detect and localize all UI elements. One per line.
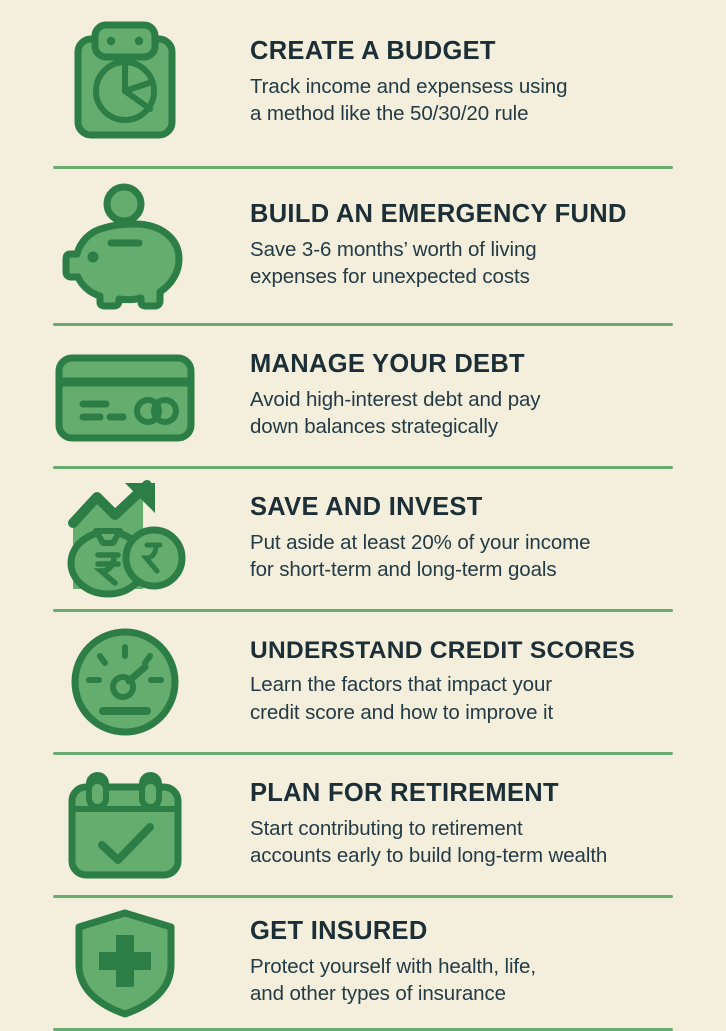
text-cell: SAVE AND INVEST Put aside at least 20% o… (250, 494, 726, 583)
tip-description-line: expenses for unexpected costs (250, 263, 708, 290)
tip-row: SAVE AND INVEST Put aside at least 20% o… (0, 469, 726, 609)
tip-description: Avoid high-interest debt and pay down ba… (250, 386, 708, 441)
tip-title: BUILD AN EMERGENCY FUND (250, 201, 708, 229)
tip-title: UNDERSTAND CREDIT SCORES (250, 638, 708, 664)
tip-description-line: and other types of insurance (250, 980, 708, 1007)
text-cell: UNDERSTAND CREDIT SCORES Learn the facto… (250, 638, 726, 726)
icon-cell (0, 19, 250, 147)
tip-description-line: accounts early to build long-term wealth (250, 842, 708, 869)
tip-row: MANAGE YOUR DEBT Avoid high-interest deb… (0, 326, 726, 466)
tip-description-line: Avoid high-interest debt and pay (250, 386, 708, 413)
text-cell: MANAGE YOUR DEBT Avoid high-interest deb… (250, 351, 726, 440)
tip-description: Track income and expensess using a metho… (250, 73, 708, 128)
tip-title: GET INSURED (250, 918, 708, 946)
piggy-bank-icon (60, 182, 190, 310)
tip-row: PLAN FOR RETIREMENT Start contributing t… (0, 755, 726, 895)
credit-card-icon (53, 346, 197, 446)
shield-cross-icon (71, 907, 179, 1019)
tip-description-line: for short-term and long-term goals (250, 556, 708, 583)
tip-description-line: credit score and how to improve it (250, 699, 708, 726)
tip-description-line: Start contributing to retirement (250, 815, 708, 842)
text-cell: CREATE A BUDGET Track income and expense… (250, 38, 726, 127)
icon-cell (0, 479, 250, 599)
tip-description: Start contributing to retirement account… (250, 815, 708, 870)
icon-cell (0, 182, 250, 310)
clipboard-pie-chart-icon (66, 19, 184, 147)
tip-title: SAVE AND INVEST (250, 494, 708, 522)
tip-row: UNDERSTAND CREDIT SCORES Learn the facto… (0, 612, 726, 752)
tip-title: MANAGE YOUR DEBT (250, 351, 708, 379)
tip-description-line: Learn the factors that impact your (250, 671, 708, 698)
tip-description-line: Put aside at least 20% of your income (250, 529, 708, 556)
icon-cell (0, 625, 250, 739)
money-bag-growth-arrow-icon (63, 479, 187, 599)
tip-description-line: Track income and expensess using (250, 73, 708, 100)
text-cell: BUILD AN EMERGENCY FUND Save 3-6 months’… (250, 201, 726, 290)
tip-row: GET INSURED Protect yourself with health… (0, 898, 726, 1028)
financial-tips-infographic: CREATE A BUDGET Track income and expense… (0, 0, 726, 1024)
text-cell: PLAN FOR RETIREMENT Start contributing t… (250, 780, 726, 869)
tip-description: Protect yourself with health, life, and … (250, 953, 708, 1008)
tip-description: Put aside at least 20% of your income fo… (250, 529, 708, 584)
text-cell: GET INSURED Protect yourself with health… (250, 918, 726, 1007)
tip-title: PLAN FOR RETIREMENT (250, 780, 708, 808)
tip-description: Save 3-6 months’ worth of living expense… (250, 236, 708, 291)
icon-cell (0, 346, 250, 446)
tip-row: BUILD AN EMERGENCY FUND Save 3-6 months’… (0, 169, 726, 323)
icon-cell (0, 907, 250, 1019)
tip-description-line: Save 3-6 months’ worth of living (250, 236, 708, 263)
tip-description: Learn the factors that impact your credi… (250, 671, 708, 726)
credit-score-gauge-icon (67, 625, 183, 739)
calendar-check-icon (64, 767, 186, 883)
tip-description-line: Protect yourself with health, life, (250, 953, 708, 980)
tip-row: CREATE A BUDGET Track income and expense… (0, 0, 726, 166)
icon-cell (0, 767, 250, 883)
tip-description-line: down balances strategically (250, 413, 708, 440)
tip-title: CREATE A BUDGET (250, 38, 708, 66)
tip-description-line: a method like the 50/30/20 rule (250, 100, 708, 127)
